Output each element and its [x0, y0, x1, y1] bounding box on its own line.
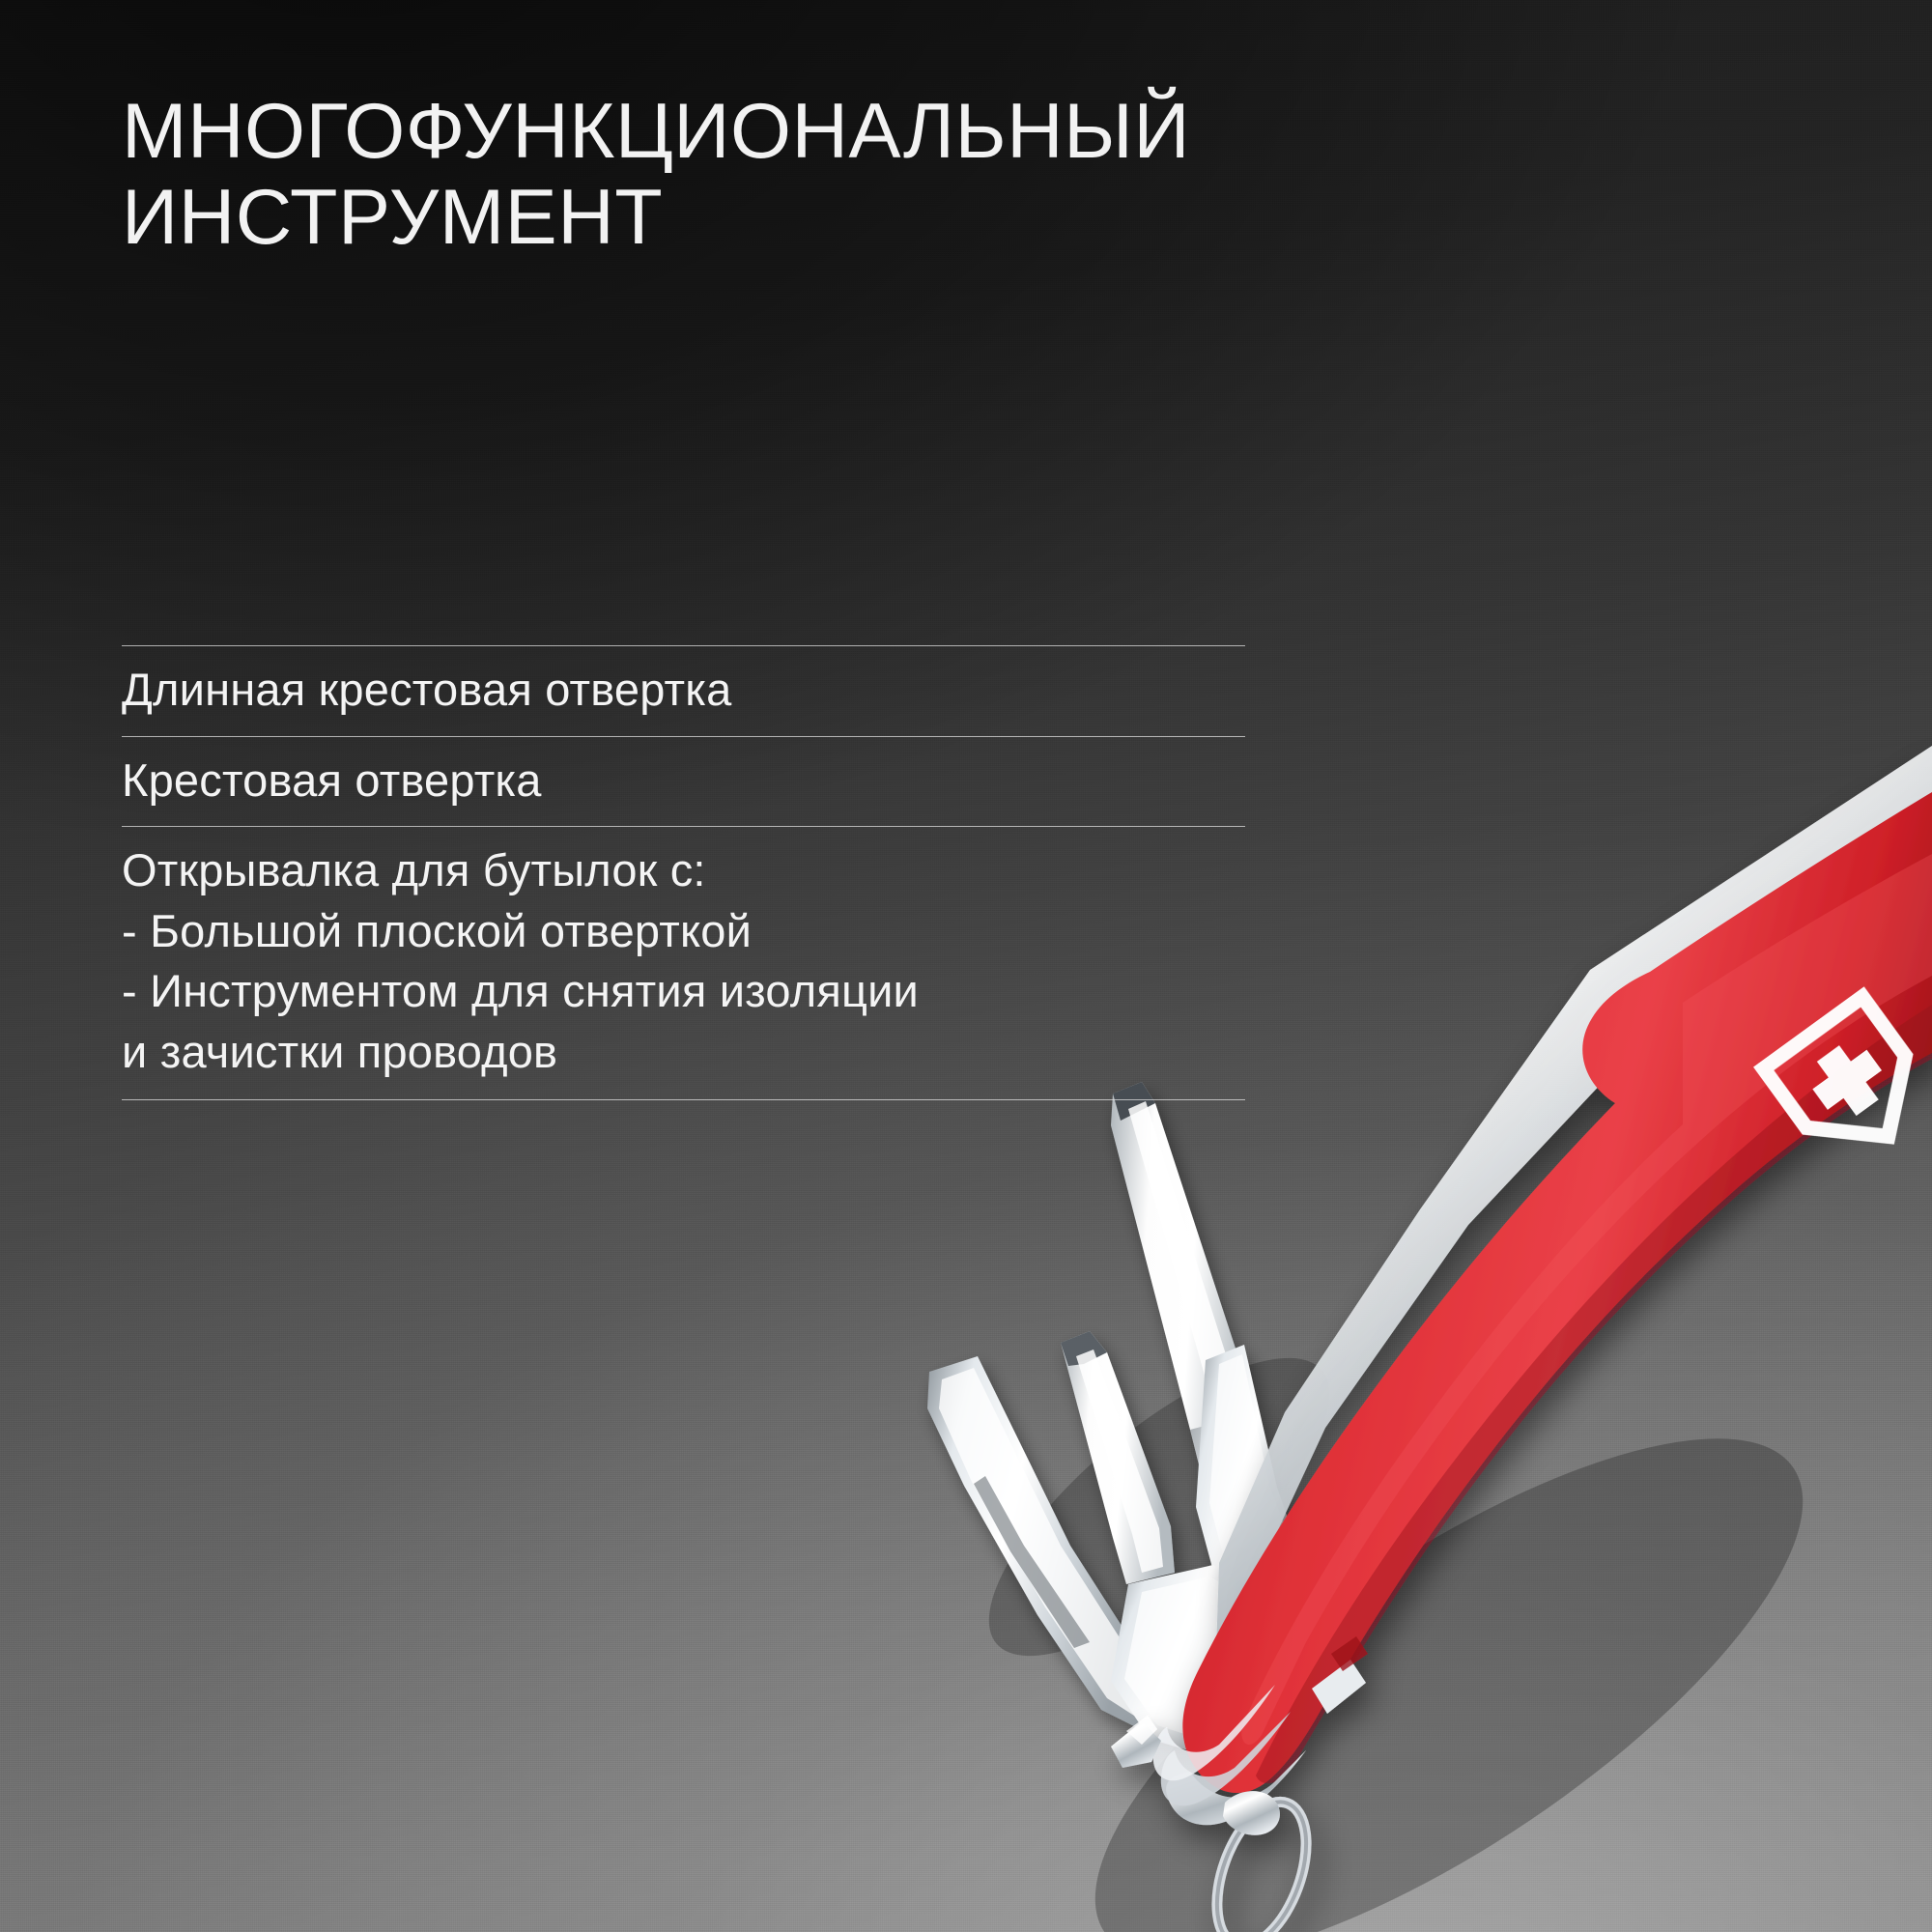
- slide-canvas: МНОГОФУНКЦИОНАЛЬНЫЙ ИНСТРУМЕНТ Длинная к…: [0, 0, 1932, 1932]
- spec-item-bottle-opener: Открывалка для бутылок с: - Большой плос…: [122, 827, 1245, 1099]
- spec-item-long-phillips-screwdriver: Длинная крестовая отвертка: [122, 646, 1245, 736]
- spec-list: Длинная крестовая отвертка Крестовая отв…: [122, 645, 1245, 1100]
- spec-divider-bottom: [122, 1099, 1245, 1100]
- page-title: МНОГОФУНКЦИОНАЛЬНЫЙ ИНСТРУМЕНТ: [122, 89, 1474, 261]
- spec-item-phillips-screwdriver: Крестовая отвертка: [122, 737, 1245, 827]
